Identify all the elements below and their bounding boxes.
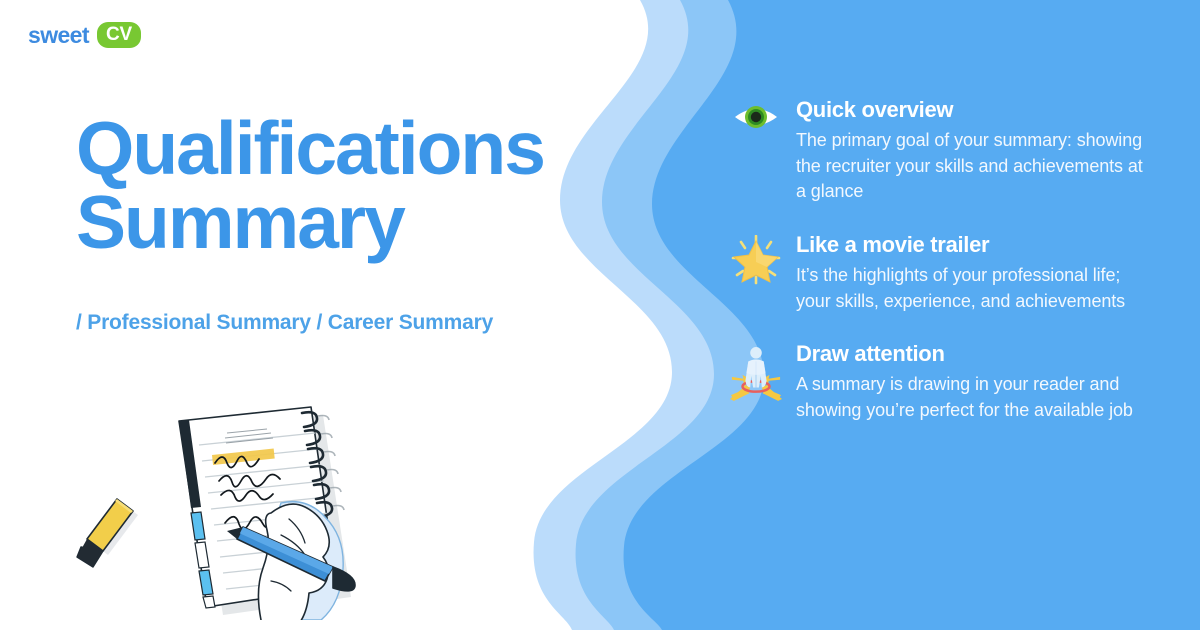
- feature-text: Quick overview The primary goal of your …: [782, 98, 1150, 205]
- brand-wordmark: sweet: [28, 24, 89, 47]
- notebook-tab-white-2: [203, 596, 215, 608]
- feature-description: A summary is drawing in your reader and …: [796, 372, 1150, 423]
- page-title: Qualifications Summary: [76, 112, 556, 259]
- feature-description: It’s the highlights of your professional…: [796, 263, 1150, 314]
- feature-description: The primary goal of your summary: showin…: [796, 128, 1150, 205]
- feature-title: Draw attention: [796, 342, 1150, 366]
- feature-title: Like a movie trailer: [796, 233, 1150, 257]
- feature-text: Like a movie trailer It’s the highlights…: [782, 233, 1150, 314]
- highlighter-marker-icon: [77, 499, 138, 567]
- target-person-arrows-icon: [730, 344, 782, 402]
- hero-text-block: Qualifications Summary / Professional Su…: [76, 112, 556, 335]
- feature-item: Quick overview The primary goal of your …: [730, 98, 1150, 205]
- brand-logo[interactable]: sweet CV: [28, 22, 141, 48]
- eye-icon: [733, 100, 779, 134]
- feature-item: Like a movie trailer It’s the highlights…: [730, 233, 1150, 314]
- feature-text: Draw attention A summary is drawing in y…: [782, 342, 1150, 423]
- feature-icon-slot: [730, 98, 782, 152]
- feature-icon-slot: [730, 233, 782, 287]
- feature-list: Quick overview The primary goal of your …: [730, 98, 1150, 451]
- page-subtitle: / Professional Summary / Career Summary: [76, 311, 556, 335]
- brand-badge-cv: CV: [97, 22, 141, 48]
- feature-item: Draw attention A summary is drawing in y…: [730, 342, 1150, 423]
- poster-canvas: sweet CV Qualifications Summary / Profes…: [0, 0, 1200, 630]
- notebook-illustration: [75, 395, 395, 620]
- sparkling-star-icon: [730, 235, 782, 285]
- feature-title: Quick overview: [796, 98, 1150, 122]
- feature-icon-slot: [730, 342, 782, 396]
